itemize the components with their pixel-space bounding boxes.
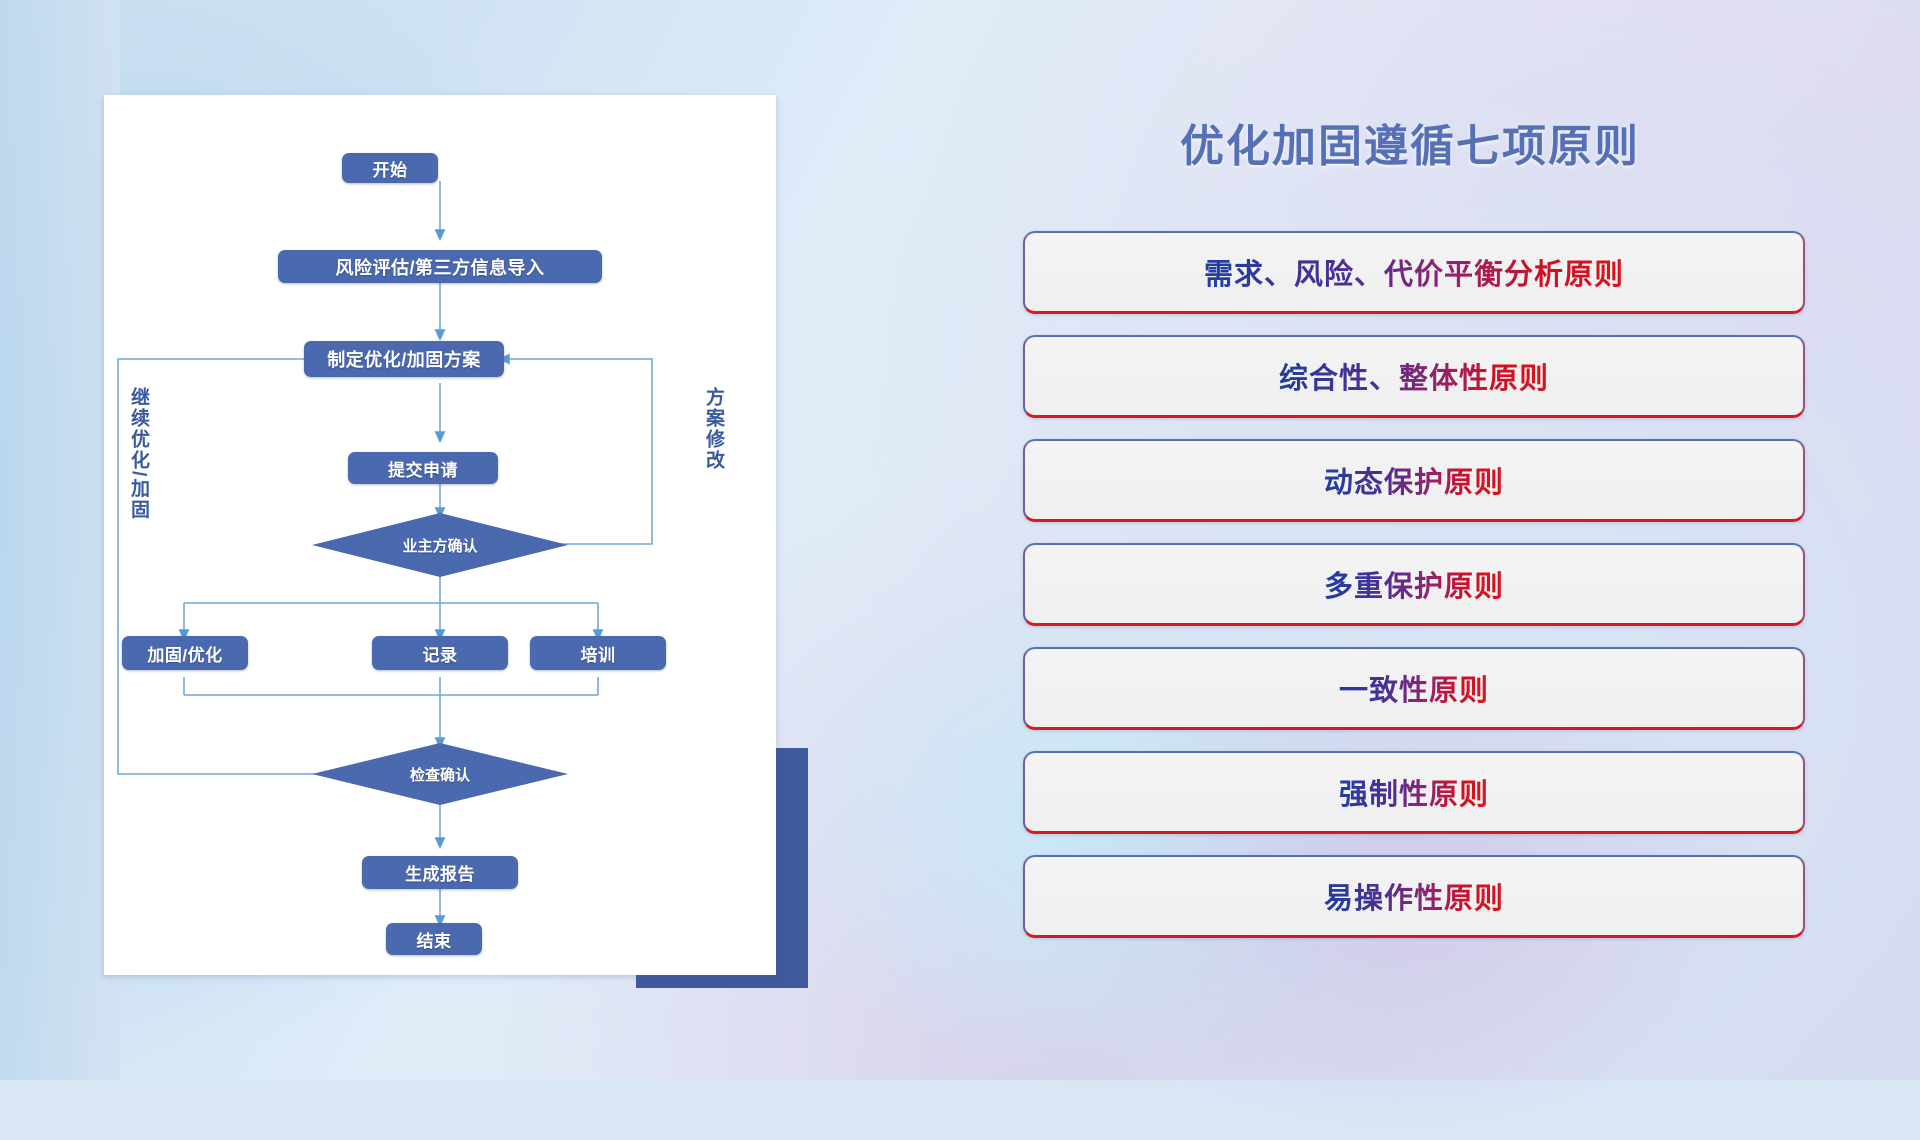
flow-node-training[interactable]: 培训	[530, 636, 666, 670]
flow-node-record-label: 记录	[423, 641, 458, 666]
principle-item[interactable]: 一致性原则	[1023, 647, 1805, 730]
principle-label: 多重保护原则	[1324, 563, 1504, 605]
principle-item[interactable]: 动态保护原则	[1023, 439, 1805, 522]
principle-label: 一致性原则	[1339, 667, 1489, 709]
principle-label: 动态保护原则	[1324, 459, 1504, 501]
flow-node-start[interactable]: 开始	[342, 153, 438, 183]
principle-label: 需求、风险、代价平衡分析原则	[1204, 251, 1624, 293]
principle-item[interactable]: 综合性、整体性原则	[1023, 335, 1805, 418]
page-title: 优化加固遵循七项原则	[1020, 110, 1800, 174]
flow-node-end-label: 结束	[417, 927, 452, 952]
flow-node-reinforce-optimize[interactable]: 加固/优化	[122, 636, 248, 670]
flowchart-card: 开始 风险评估/第三方信息导入 制定优化/加固方案 提交申请 业主方确认 加固/…	[104, 95, 776, 975]
flow-node-reinforce-optimize-label: 加固/优化	[147, 641, 222, 666]
principle-label: 强制性原则	[1339, 771, 1489, 813]
flow-edge-label-left-loop: 继续优化/加固	[129, 387, 148, 537]
flow-node-training-label: 培训	[581, 641, 616, 666]
principle-label: 易操作性原则	[1324, 875, 1504, 917]
flow-edge-label-right-loop: 方案修改	[704, 387, 723, 517]
flow-node-generate-report[interactable]: 生成报告	[362, 856, 518, 889]
principle-item[interactable]: 易操作性原则	[1023, 855, 1805, 938]
principle-item[interactable]: 强制性原则	[1023, 751, 1805, 834]
flow-node-check-confirm-label: 检查确认	[410, 764, 470, 785]
flow-node-risk-assessment-label: 风险评估/第三方信息导入	[336, 254, 545, 280]
principle-label: 综合性、整体性原则	[1279, 355, 1549, 397]
flow-node-generate-report-label: 生成报告	[405, 860, 475, 885]
principle-list: 需求、风险、代价平衡分析原则 综合性、整体性原则 动态保护原则 多重保护原则 一…	[1023, 231, 1805, 959]
flow-node-risk-assessment[interactable]: 风险评估/第三方信息导入	[278, 250, 602, 283]
flow-node-submit-application[interactable]: 提交申请	[348, 452, 498, 484]
flow-node-record[interactable]: 记录	[372, 636, 508, 670]
principle-item[interactable]: 多重保护原则	[1023, 543, 1805, 626]
flow-node-owner-confirm-label: 业主方确认	[402, 535, 477, 556]
flow-node-make-plan-label: 制定优化/加固方案	[327, 346, 481, 372]
flow-node-make-plan[interactable]: 制定优化/加固方案	[304, 341, 504, 377]
flow-node-submit-application-label: 提交申请	[388, 456, 458, 481]
flow-node-start-label: 开始	[373, 156, 408, 181]
flow-node-end[interactable]: 结束	[386, 923, 482, 955]
background-left-band	[0, 0, 120, 1080]
principle-item[interactable]: 需求、风险、代价平衡分析原则	[1023, 231, 1805, 314]
